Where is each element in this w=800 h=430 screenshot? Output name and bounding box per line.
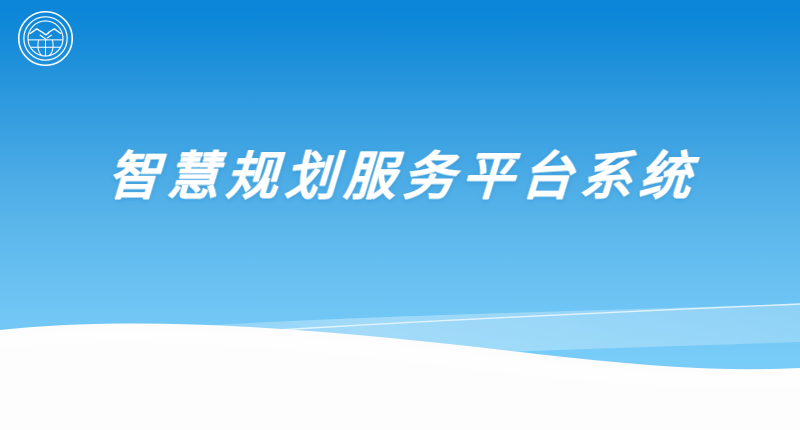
emblem-handshake-right-arm <box>48 29 60 34</box>
emblem-handshake-left-arm <box>30 29 42 34</box>
emblem-handshake-fingers-a <box>40 35 44 38</box>
wave-decoration <box>0 290 800 430</box>
globe-handshake-emblem-icon <box>16 9 75 68</box>
emblem-handshake-fingers-b <box>47 35 51 38</box>
brand-logo[interactable] <box>16 9 75 68</box>
emblem-handshake-clasp <box>43 33 49 35</box>
splash-screen: 智慧规划服务平台系统 <box>0 0 800 430</box>
